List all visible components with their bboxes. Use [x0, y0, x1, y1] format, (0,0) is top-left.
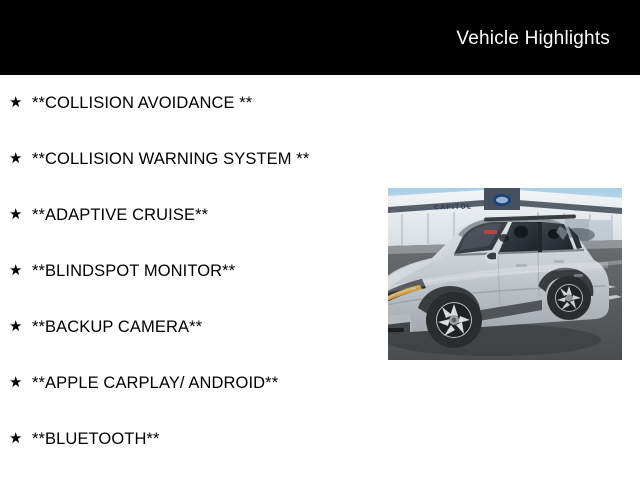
vehicle-highlights-list: ★ **COLLISION AVOIDANCE ** ★ **COLLISION…	[0, 75, 388, 467]
star-bullet-icon: ★	[9, 299, 22, 355]
star-bullet-icon: ★	[9, 131, 22, 187]
list-item: ★ **ADAPTIVE CRUISE**	[0, 187, 388, 243]
page-title: Vehicle Highlights	[456, 28, 610, 50]
list-item-label: **BLUETOOTH**	[32, 430, 160, 448]
list-item: ★ **BLINDSPOT MONITOR**	[0, 243, 388, 299]
list-item-label: **COLLISION WARNING SYSTEM **	[32, 150, 309, 168]
list-item: ★ **APPLE CARPLAY/ ANDROID**	[0, 355, 388, 411]
dealer-sign-text: CAPITOL	[434, 203, 472, 211]
list-item: ★ **COLLISION AVOIDANCE **	[0, 75, 388, 131]
vehicle-photo: CAPITOL	[388, 188, 622, 360]
list-item-label: **APPLE CARPLAY/ ANDROID**	[32, 374, 278, 392]
list-item-label: **BLINDSPOT MONITOR**	[32, 262, 235, 280]
star-bullet-icon: ★	[9, 355, 22, 411]
list-item: ★ **BACKUP CAMERA**	[0, 299, 388, 355]
vehicle-photo-graphic	[388, 188, 622, 360]
list-item: ★ **BLUETOOTH**	[0, 411, 388, 467]
star-bullet-icon: ★	[9, 411, 22, 467]
list-item: ★ **COLLISION WARNING SYSTEM **	[0, 131, 388, 187]
star-bullet-icon: ★	[9, 187, 22, 243]
star-bullet-icon: ★	[9, 75, 22, 131]
list-item-label: **BACKUP CAMERA**	[32, 318, 202, 336]
list-item-label: **COLLISION AVOIDANCE **	[32, 94, 252, 112]
header-bar: Vehicle Highlights	[0, 0, 640, 75]
star-bullet-icon: ★	[9, 243, 22, 299]
list-item-label: **ADAPTIVE CRUISE**	[32, 206, 208, 224]
